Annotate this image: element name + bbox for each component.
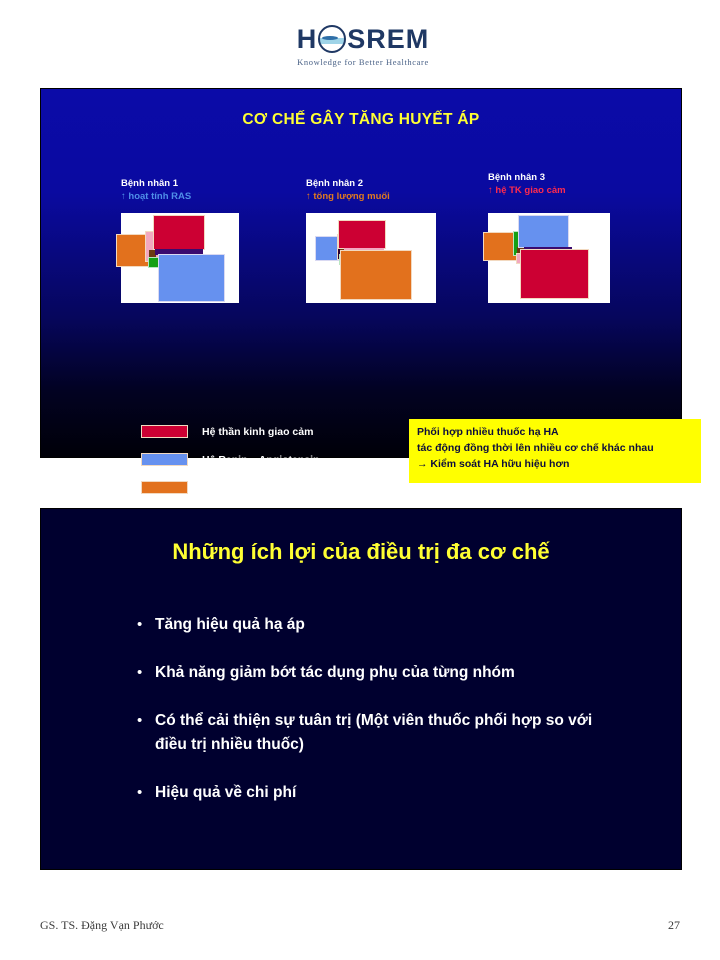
slide2-title: Những ích lợi của điều trị đa cơ chế bbox=[41, 539, 681, 565]
patient-2-diagram bbox=[306, 213, 436, 303]
rect-sympathetic-nervous bbox=[339, 221, 385, 248]
list-item: • Khả năng giảm bớt tác dụng phụ của từn… bbox=[137, 661, 607, 685]
rect-sympathetic-nervous bbox=[521, 250, 588, 298]
patient-3-label-group: Bệnh nhân 3 ↑ hệ TK giao cảm bbox=[488, 171, 566, 197]
legend-swatch-orange bbox=[141, 481, 188, 494]
patient-1-subtitle: ↑ hoạt tính RAS bbox=[121, 190, 191, 203]
bullet-marker-icon: • bbox=[137, 661, 155, 685]
bullet-marker-icon: • bbox=[137, 709, 155, 757]
footer-page-number: 27 bbox=[668, 918, 680, 933]
bullet-text-4: Hiệu quả về chi phí bbox=[155, 781, 296, 805]
callout-line-2: tác động đồng thời lên nhiều cơ chế khác… bbox=[417, 440, 693, 456]
patient-1-label-group: Bệnh nhân 1 ↑ hoạt tính RAS bbox=[121, 177, 191, 203]
rect-renin-angiotensin bbox=[519, 216, 568, 247]
bullet-text-1: Tăng hiệu quả hạ áp bbox=[155, 613, 305, 637]
rect-renin-angiotensin bbox=[159, 255, 224, 301]
legend-item-sympathetic: Hệ thần kinh giao cảm bbox=[141, 421, 345, 442]
hosrem-logo: H SREM Knowledge for Better Healthcare bbox=[293, 24, 433, 72]
logo-wordmark: H SREM bbox=[297, 24, 430, 54]
patient-3-subtitle: ↑ hệ TK giao cảm bbox=[488, 184, 566, 197]
patient-3-name: Bệnh nhân 3 bbox=[488, 171, 566, 184]
rect-salt-volume bbox=[341, 251, 411, 299]
rect-sympathetic-nervous bbox=[154, 216, 204, 249]
bullet-marker-icon: • bbox=[137, 613, 155, 637]
benefits-list: • Tăng hiệu quả hạ áp • Khả năng giảm bớ… bbox=[137, 613, 607, 829]
callout-line-1: Phối hợp nhiều thuốc hạ HA bbox=[417, 424, 693, 440]
list-item: • Có thể cải thiện sự tuân trị (Một viên… bbox=[137, 709, 607, 757]
globe-wave-icon bbox=[318, 25, 346, 53]
patient-2-label-group: Bệnh nhân 2 ↑ tống lượng muối bbox=[306, 177, 390, 203]
bullet-text-2: Khả năng giảm bớt tác dụng phụ của từng … bbox=[155, 661, 515, 685]
legend-swatch-blue bbox=[141, 453, 188, 466]
logo-text-part2: SREM bbox=[347, 24, 429, 54]
logo-tagline: Knowledge for Better Healthcare bbox=[297, 57, 429, 67]
callout-box: Phối hợp nhiều thuốc hạ HA tác động đồng… bbox=[409, 419, 701, 483]
patient-1-diagram bbox=[121, 213, 239, 303]
legend-item-renin: Hệ Renin – Angiotensin bbox=[141, 449, 345, 470]
patient-2-name: Bệnh nhân 2 bbox=[306, 177, 390, 190]
slide-benefits: Những ích lợi của điều trị đa cơ chế • T… bbox=[40, 508, 682, 870]
slide-mechanisms: CƠ CHẾ GÂY TĂNG HUYẾT ÁP Bệnh nhân 1 ↑ h… bbox=[40, 88, 682, 458]
logo-text-part1: H bbox=[297, 24, 318, 54]
callout-line-3: → Kiểm soát HA hữu hiệu hơn bbox=[417, 456, 693, 472]
list-item: • Hiệu quả về chi phí bbox=[137, 781, 607, 805]
legend: Hệ thần kinh giao cảm Hệ Renin – Angiote… bbox=[141, 421, 345, 505]
legend-swatch-red bbox=[141, 425, 188, 438]
legend-label-salt: Tổng lượng muối của cơ thể bbox=[202, 482, 345, 494]
list-item: • Tăng hiệu quả hạ áp bbox=[137, 613, 607, 637]
patient-1-name: Bệnh nhân 1 bbox=[121, 177, 191, 190]
patient-3-diagram bbox=[488, 213, 610, 303]
slide-page: H SREM Knowledge for Better Healthcare C… bbox=[0, 0, 720, 960]
footer-author: GS. TS. Đặng Vạn Phước bbox=[40, 918, 164, 933]
legend-label-sympathetic: Hệ thần kinh giao cảm bbox=[202, 426, 313, 438]
patient-diagram-group: Bệnh nhân 1 ↑ hoạt tính RAS Bệnh nhân 2 … bbox=[41, 89, 681, 457]
patient-2-subtitle: ↑ tống lượng muối bbox=[306, 190, 390, 203]
legend-label-renin: Hệ Renin – Angiotensin bbox=[202, 454, 319, 466]
bullet-marker-icon: • bbox=[137, 781, 155, 805]
bullet-text-3: Có thể cải thiện sự tuân trị (Một viên t… bbox=[155, 709, 607, 757]
rect-green-accent bbox=[149, 258, 158, 267]
legend-item-salt: Tổng lượng muối của cơ thể bbox=[141, 477, 345, 498]
